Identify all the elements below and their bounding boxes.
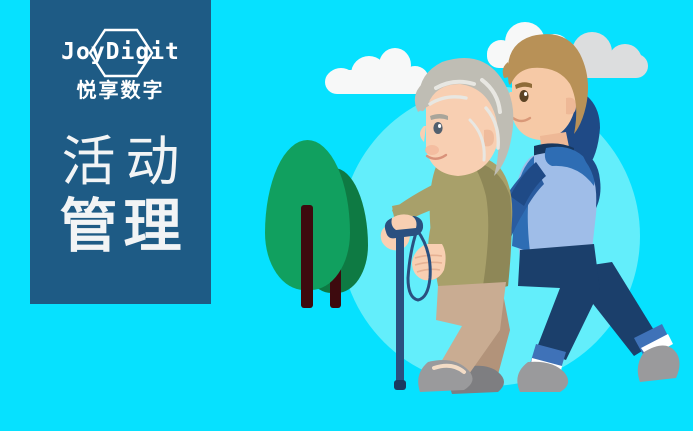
page-title-line2: 管理 — [30, 194, 211, 260]
poster-canvas: JoyDigit 悦享数字 活动 管理 — [0, 0, 693, 431]
page-title-line1: 活动 — [30, 130, 211, 194]
title-panel: JoyDigit 悦享数字 活动 管理 — [30, 0, 211, 304]
brand-logo: JoyDigit 悦享数字 — [30, 32, 211, 104]
brand-logo-text: JoyDigit — [61, 32, 180, 72]
page-title: 活动 管理 — [30, 130, 211, 260]
brand-logo-subtitle: 悦享数字 — [30, 78, 211, 104]
